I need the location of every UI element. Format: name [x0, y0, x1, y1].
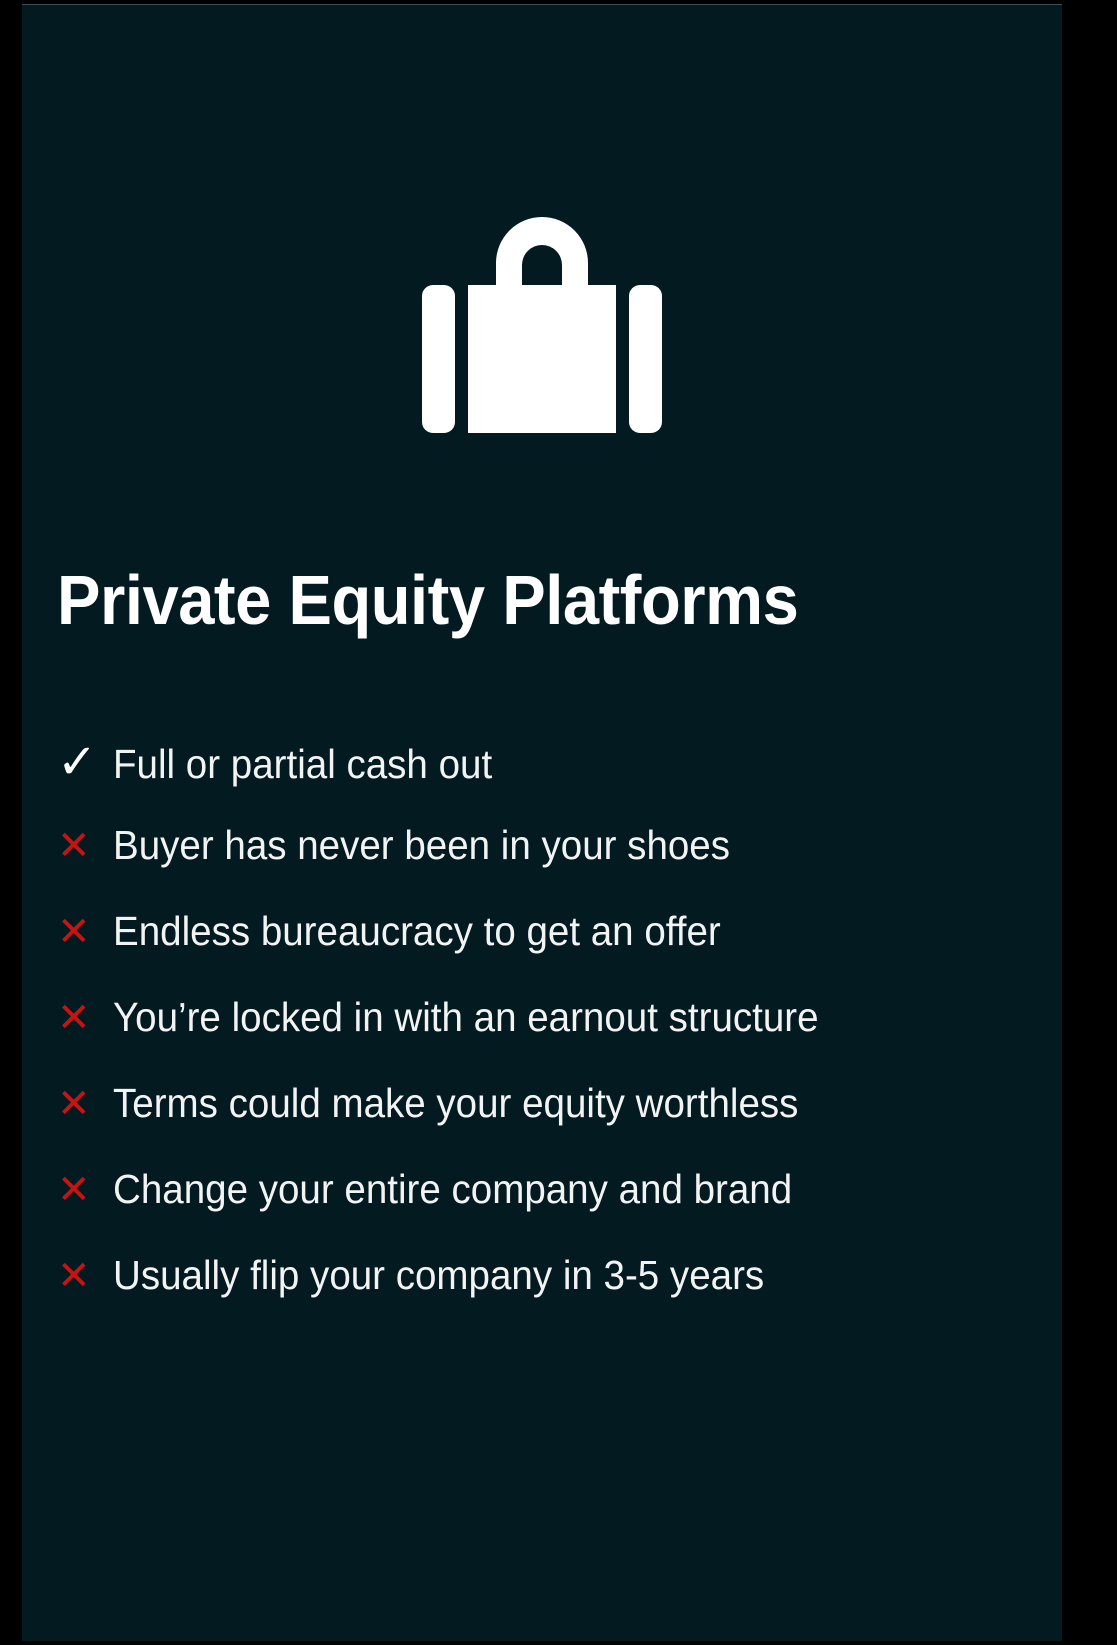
list-item-label: Full or partial cash out	[113, 744, 991, 785]
cross-icon: ✕	[57, 1256, 113, 1296]
list-item: ✓ Full or partial cash out	[57, 739, 1047, 825]
list-item: ✕ Terms could make your equity worthless	[57, 1083, 1047, 1169]
list-item: ✕ Buyer has never been in your shoes	[57, 825, 1047, 911]
check-icon: ✓	[57, 739, 113, 787]
cross-icon: ✕	[57, 1170, 113, 1210]
list-item-label: Buyer has never been in your shoes	[113, 825, 991, 866]
cross-icon: ✕	[57, 826, 113, 866]
icon-container	[22, 211, 1062, 436]
list-item-label: Change your entire company and brand	[113, 1169, 991, 1210]
slide-card: Private Equity Platforms ✓ Full or parti…	[22, 4, 1062, 1641]
list-item-label: You’re locked in with an earnout structu…	[113, 997, 991, 1038]
briefcase-icon	[422, 211, 662, 433]
cross-icon: ✕	[57, 998, 113, 1038]
list-item: ✕ You’re locked in with an earnout struc…	[57, 997, 1047, 1083]
list-item: ✕ Usually flip your company in 3-5 years	[57, 1255, 1047, 1341]
list-item-label: Usually flip your company in 3-5 years	[113, 1255, 991, 1296]
list-item: ✕ Change your entire company and brand	[57, 1169, 1047, 1255]
cross-icon: ✕	[57, 912, 113, 952]
list-item-label: Endless bureaucracy to get an offer	[113, 911, 991, 952]
page-title: Private Equity Platforms	[57, 565, 968, 635]
list-item-label: Terms could make your equity worthless	[113, 1083, 991, 1124]
list-item: ✕ Endless bureaucracy to get an offer	[57, 911, 1047, 997]
cross-icon: ✕	[57, 1084, 113, 1124]
feature-list: ✓ Full or partial cash out ✕ Buyer has n…	[57, 739, 1047, 1341]
outer-frame: Private Equity Platforms ✓ Full or parti…	[0, 0, 1117, 1645]
